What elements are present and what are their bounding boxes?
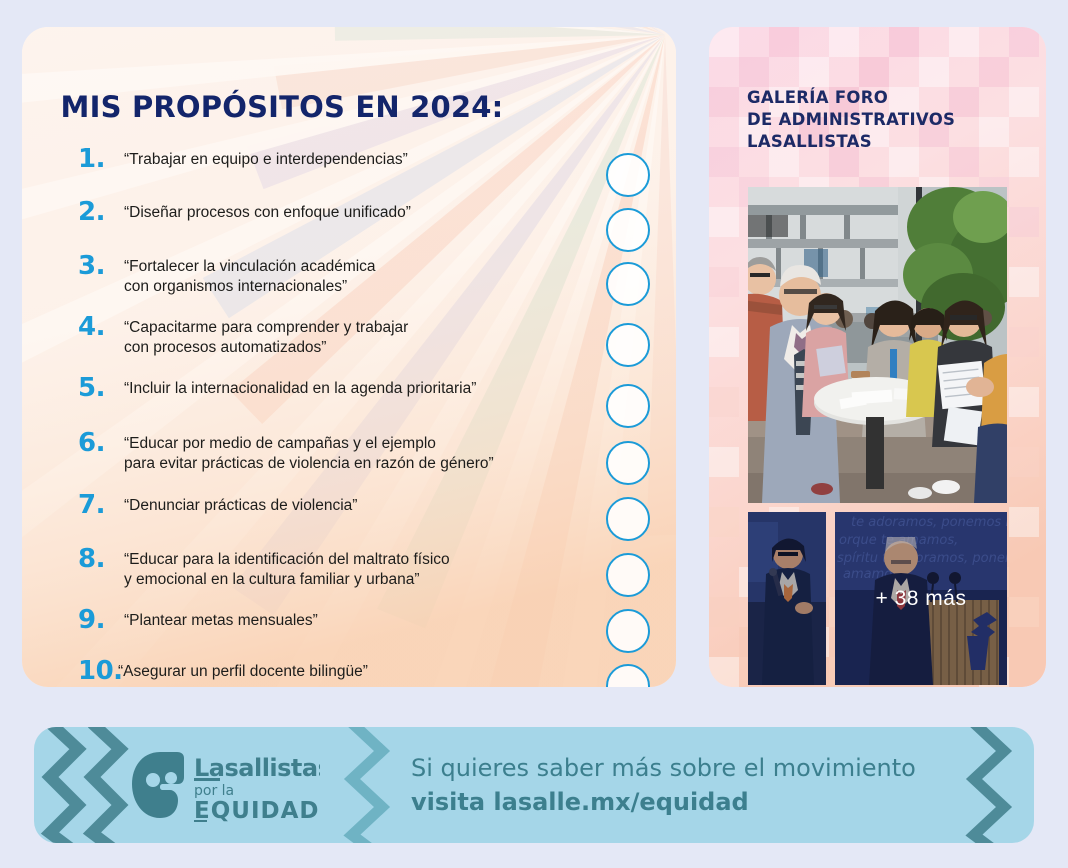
poster-canvas: MIS PROPÓSITOS EN 2024: 1. “Trabajar en …	[0, 0, 1068, 868]
list-item-line1: “Fortalecer la vinculación académica	[124, 258, 376, 275]
list-item-number: 3.	[78, 252, 124, 280]
face-profile-icon	[132, 752, 184, 818]
list-item-number: 1.	[78, 145, 124, 173]
checkbox-circle-2[interactable]	[606, 208, 650, 252]
checkbox-circle-7[interactable]	[606, 497, 650, 541]
cta-line1: Si quieres saber más sobre el movimiento	[411, 751, 991, 785]
propositos-list: 1. “Trabajar en equipo e interdependenci…	[78, 145, 638, 687]
checkbox-circle-9[interactable]	[606, 609, 650, 653]
checkbox-circle-6[interactable]	[606, 441, 650, 485]
list-item: 9. “Plantear metas mensuales”	[78, 606, 638, 657]
list-item: 6. “Educar por medio de campañas y el ej…	[78, 429, 638, 491]
gallery-title-line2: DE ADMINISTRATIVOS	[747, 109, 1027, 131]
list-item: 1. “Trabajar en equipo e interdependenci…	[78, 145, 638, 198]
cta-link[interactable]: lasalle.mx/equidad	[493, 788, 748, 816]
list-item-line1: “Asegurar un perfil docente bilingüe”	[118, 663, 368, 680]
list-item-text: “Educar por medio de campañas y el ejemp…	[124, 429, 638, 474]
list-item-line1: “Denunciar prácticas de violencia”	[124, 497, 357, 514]
main-photo[interactable]	[748, 187, 1007, 503]
checkbox-circle-5[interactable]	[606, 384, 650, 428]
list-item-line1: “Educar para la identificación del maltr…	[124, 551, 450, 568]
list-item-number: 8.	[78, 545, 124, 573]
list-item-text: “Fortalecer la vinculación académica con…	[124, 252, 638, 297]
list-item-text: “Plantear metas mensuales”	[124, 606, 638, 631]
gallery-card: GALERÍA FORO DE ADMINISTRATIVOS LASALLIS…	[709, 27, 1046, 687]
list-item-text: “Trabajar en equipo e interdependencias”	[124, 145, 638, 170]
more-photos-label: + 38 más	[876, 587, 967, 611]
list-item-text: “Educar para la identificación del maltr…	[124, 545, 638, 590]
page-title: MIS PROPÓSITOS EN 2024:	[22, 90, 542, 124]
checkbox-circle-4[interactable]	[606, 323, 650, 367]
checkbox-circle-10[interactable]	[606, 664, 650, 687]
lasallistas-logo: Lasallistas por la EQUIDAD	[130, 748, 320, 822]
list-item-line2: para evitar prácticas de violencia en ra…	[124, 454, 638, 474]
cta-banner: Lasallistas por la EQUIDAD Si quieres sa…	[34, 727, 1034, 843]
cta-text: Si quieres saber más sobre el movimiento…	[411, 751, 991, 819]
thumb-photo-left[interactable]	[748, 512, 826, 685]
gallery-title-line1: GALERÍA FORO	[747, 87, 1027, 109]
checkbox-circle-1[interactable]	[606, 153, 650, 197]
list-item-line1: “Trabajar en equipo e interdependencias”	[124, 151, 408, 168]
list-item-line1: “Incluir la internacionalidad en la agen…	[124, 380, 476, 397]
list-item-number: 9.	[78, 606, 124, 634]
cta-line2: visita lasalle.mx/equidad	[411, 785, 991, 819]
svg-text:EQUIDAD: EQUIDAD	[194, 798, 319, 822]
more-photos-overlay[interactable]: + 38 más	[835, 512, 1007, 685]
checkbox-circle-3[interactable]	[606, 262, 650, 306]
svg-text:por la: por la	[194, 783, 234, 799]
svg-text:Lasallistas: Lasallistas	[194, 754, 320, 782]
list-item: 4. “Capacitarme para comprender y trabaj…	[78, 313, 638, 374]
list-item-text: “Denunciar prácticas de violencia”	[124, 491, 638, 516]
list-item-text: “Capacitarme para comprender y trabajar …	[124, 313, 638, 358]
list-item-number: 7.	[78, 491, 124, 519]
propositos-card: MIS PROPÓSITOS EN 2024: 1. “Trabajar en …	[22, 27, 676, 687]
list-item: 7. “Denunciar prácticas de violencia”	[78, 491, 638, 545]
list-item-line2: con procesos automatizados”	[124, 338, 638, 358]
gallery-title: GALERÍA FORO DE ADMINISTRATIVOS LASALLIS…	[747, 87, 1027, 153]
list-item-text: “Diseñar procesos con enfoque unificado”	[124, 198, 638, 223]
list-item-number: 2.	[78, 198, 124, 226]
list-item: 5. “Incluir la internacionalidad en la a…	[78, 374, 638, 429]
list-item: 8. “Educar para la identificación del ma…	[78, 545, 638, 606]
list-item: 2. “Diseñar procesos con enfoque unifica…	[78, 198, 638, 252]
checkbox-column	[606, 153, 662, 687]
list-item-line1: “Diseñar procesos con enfoque unificado”	[124, 204, 411, 221]
list-item-line2: y emocional en la cultura familiar y urb…	[124, 570, 638, 590]
list-item-line1: “Capacitarme para comprender y trabajar	[124, 319, 408, 336]
list-item: 3. “Fortalecer la vinculación académica …	[78, 252, 638, 313]
checkbox-circle-8[interactable]	[606, 553, 650, 597]
list-item-text: “Incluir la internacionalidad en la agen…	[124, 374, 638, 399]
list-item-number: 5.	[78, 374, 124, 402]
list-item-number: 4.	[78, 313, 124, 341]
gallery-title-line3: LASALLISTAS	[747, 131, 1027, 153]
list-item-number: 6.	[78, 429, 124, 457]
list-item-line2: con organismos internacionales”	[124, 277, 638, 297]
list-item-line1: “Educar por medio de campañas y el ejemp…	[124, 435, 436, 452]
cta-line2-prefix: visita	[411, 788, 493, 816]
list-item-line1: “Plantear metas mensuales”	[124, 612, 318, 629]
list-item-text: “Asegurar un perfil docente bilingüe”	[118, 657, 638, 682]
list-item: 10. “Asegurar un perfil docente bilingüe…	[78, 657, 638, 687]
